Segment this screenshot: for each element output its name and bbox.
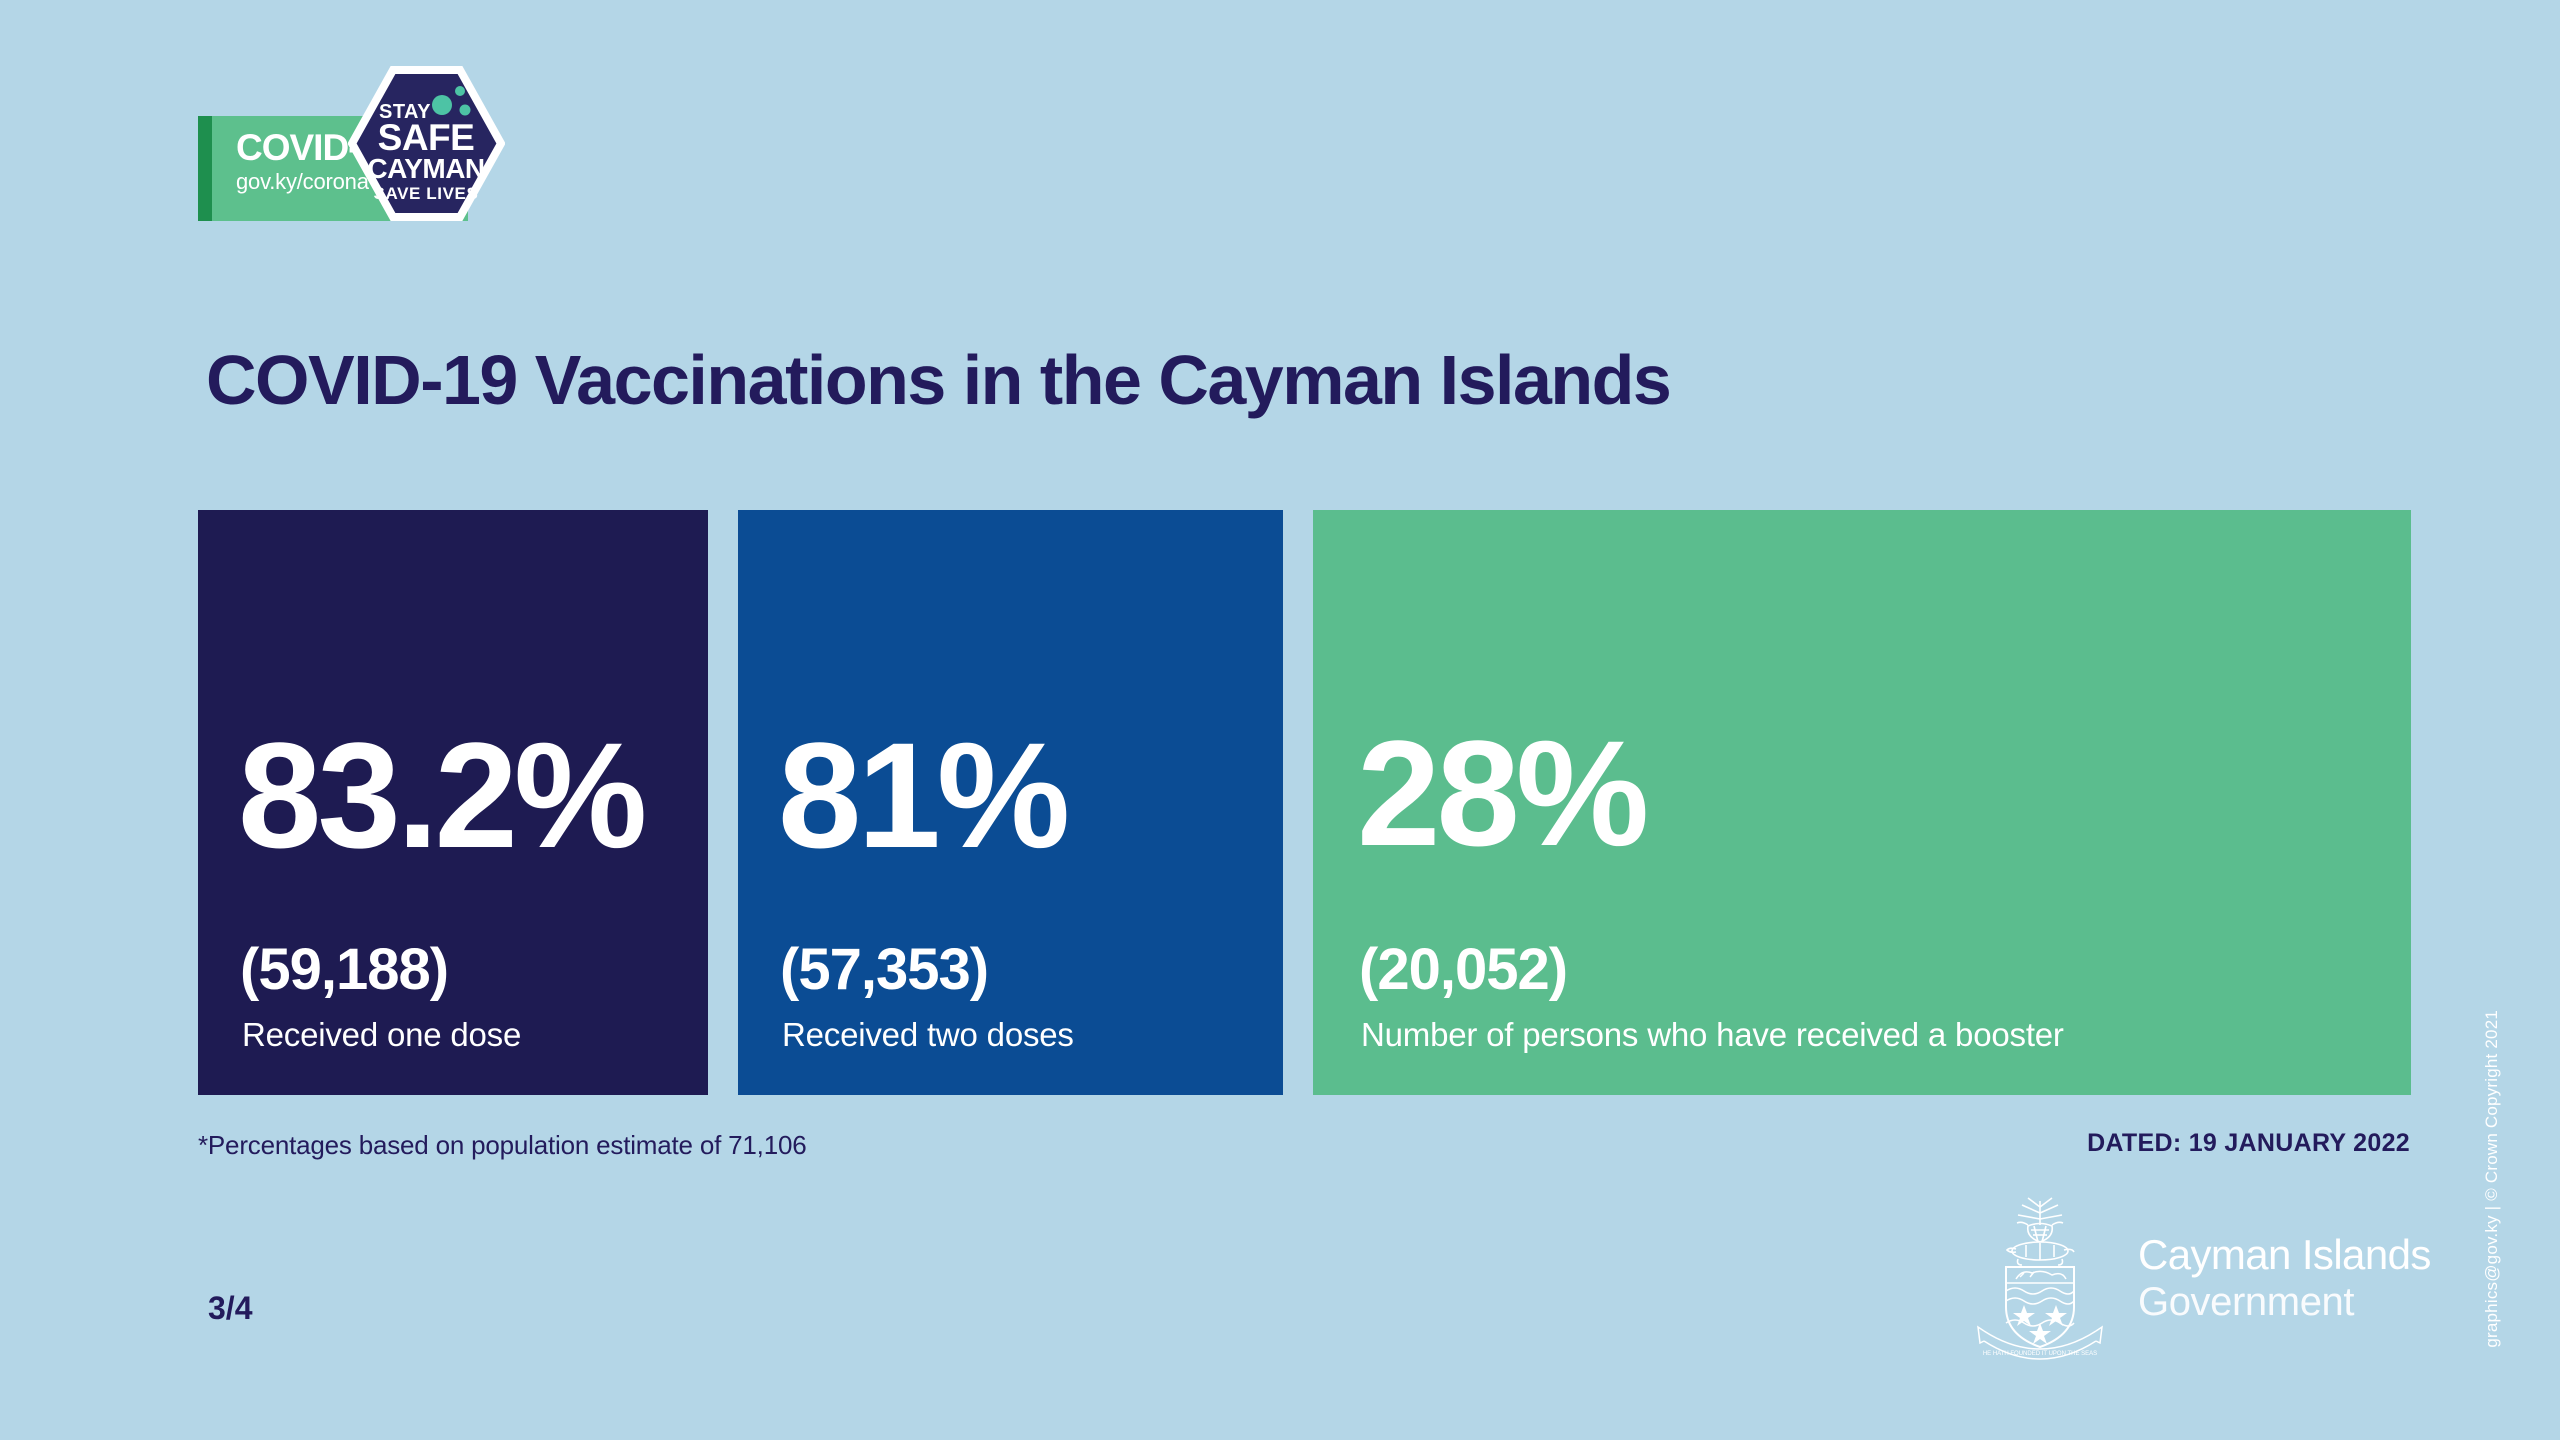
- cayman-coat-of-arms-icon: HE HATH FOUNDED IT UPON THE SEAS: [1970, 1195, 2110, 1365]
- svg-text:SAFE: SAFE: [378, 117, 475, 158]
- stat-label: Number of persons who have received a bo…: [1361, 1016, 2064, 1054]
- crest-motto: HE HATH FOUNDED IT UPON THE SEAS: [1983, 1351, 2097, 1357]
- dated-label: DATED: 19 JANUARY 2022: [2087, 1129, 2410, 1158]
- stat-percent: 28%: [1357, 718, 1645, 868]
- stat-count: (59,188): [240, 940, 448, 1000]
- stat-count: (20,052): [1359, 940, 1567, 1000]
- population-footnote: *Percentages based on population estimat…: [198, 1130, 806, 1161]
- brand-badge: COVID-19 gov.ky/coronavirus STAY SAFE CA…: [198, 66, 598, 221]
- stat-percent: 83.2%: [238, 720, 643, 870]
- copyright-credit: graphics@gov.ky | © Crown Copyright 2021: [2482, 1010, 2502, 1348]
- government-wordmark: Cayman Islands Government: [2138, 1231, 2431, 1325]
- stat-label: Received two doses: [782, 1016, 1074, 1054]
- page-number: 3/4: [208, 1290, 252, 1327]
- government-logo: HE HATH FOUNDED IT UPON THE SEAS Cayman …: [1970, 1195, 2420, 1375]
- stat-label: Received one dose: [242, 1016, 521, 1054]
- hexagon-badge-icon: STAY SAFE CAYMAN SAVE LIVES: [348, 66, 505, 221]
- stat-count: (57,353): [780, 940, 988, 1000]
- gov-name-line-1: Cayman Islands: [2138, 1231, 2431, 1279]
- page-title: COVID-19 Vaccinations in the Cayman Isla…: [206, 340, 1670, 420]
- svg-text:SAVE LIVES: SAVE LIVES: [374, 184, 479, 203]
- stat-percent: 81%: [778, 720, 1066, 870]
- stat-card-booster: 28% (20,052) Number of persons who have …: [1313, 510, 2411, 1095]
- covid-banner-edge: [198, 116, 212, 221]
- stat-card-one-dose: 83.2% (59,188) Received one dose: [198, 510, 708, 1095]
- gov-name-line-2: Government: [2138, 1279, 2431, 1325]
- svg-text:CAYMAN: CAYMAN: [367, 153, 484, 184]
- stat-card-two-doses: 81% (57,353) Received two doses: [738, 510, 1283, 1095]
